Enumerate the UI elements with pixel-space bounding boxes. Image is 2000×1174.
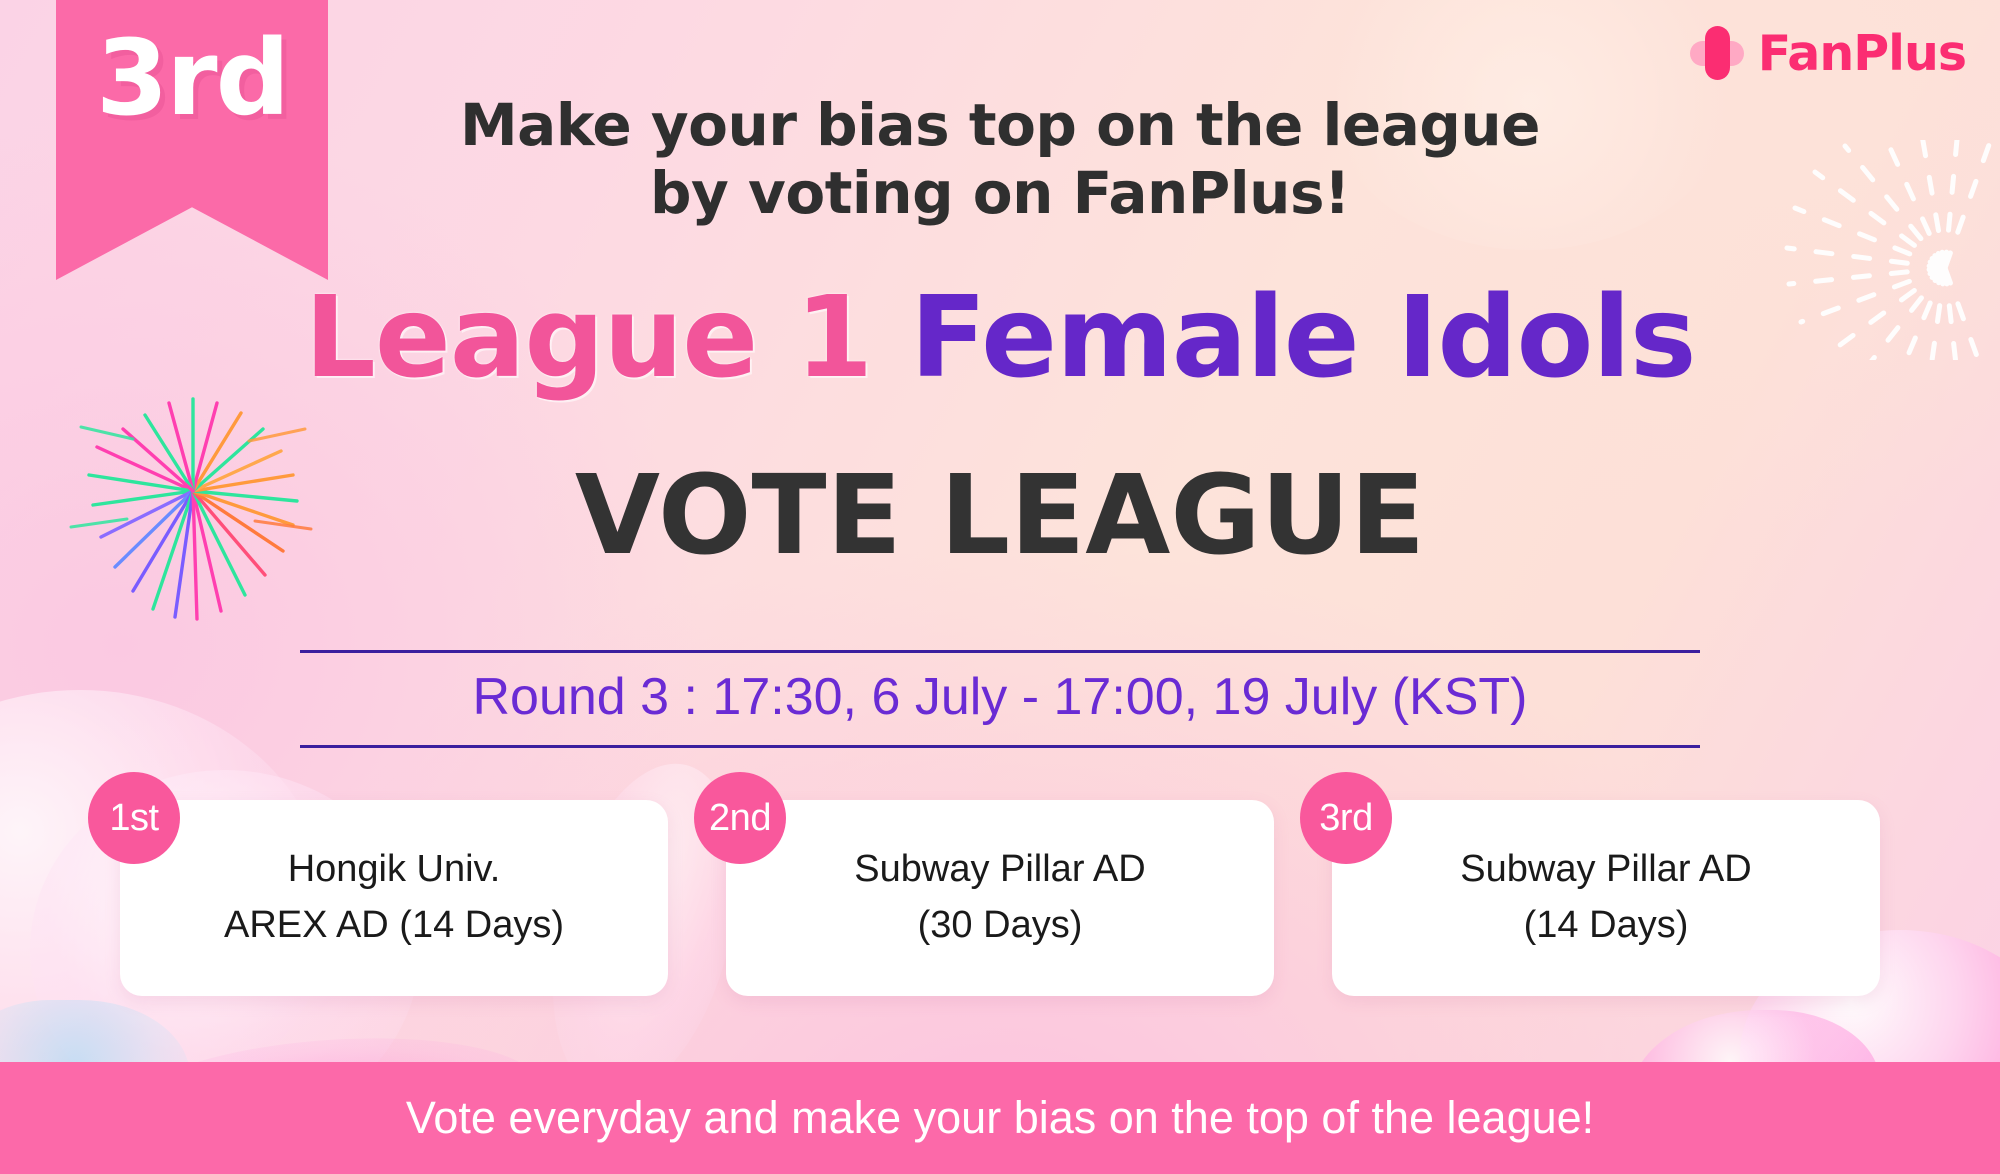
footer-bar: Vote everyday and make your bias on the … <box>0 1062 2000 1174</box>
fanplus-plus-icon <box>1690 26 1744 80</box>
prize-card-1[interactable]: 1st Hongik Univ. AREX AD (14 Days) <box>120 800 668 996</box>
fanplus-logo[interactable]: FanPlus <box>1690 26 1966 80</box>
prize-card-body[interactable]: Hongik Univ. AREX AD (14 Days) <box>120 800 668 996</box>
fanplus-wordmark: FanPlus <box>1758 29 1966 78</box>
headline-line-1: Make your bias top on the league <box>0 92 2000 160</box>
rank-badge: 3rd <box>1300 772 1392 864</box>
round-schedule-band: Round 3 : 17:30, 6 July - 17:00, 19 July… <box>300 650 1700 748</box>
promo-banner: 3rd FanPlus Make your bias top on the le… <box>0 0 2000 1174</box>
page-subtitle: VOTE LEAGUE <box>0 460 2000 570</box>
prize-line-1: Subway Pillar AD <box>1460 850 1751 890</box>
prize-card-3[interactable]: 3rd Subway Pillar AD (14 Days) <box>1332 800 1880 996</box>
page-title: League 1 Female Idols <box>0 282 2000 394</box>
prize-card-2[interactable]: 2nd Subway Pillar AD (30 Days) <box>726 800 1274 996</box>
prize-card-list: 1st Hongik Univ. AREX AD (14 Days) 2nd S… <box>120 800 1880 996</box>
footer-text: Vote everyday and make your bias on the … <box>406 1092 1594 1144</box>
rank-badge: 1st <box>88 772 180 864</box>
title-category-part: Female Idols <box>910 273 1695 403</box>
prize-line-2: (30 Days) <box>918 906 1083 946</box>
prize-card-body[interactable]: Subway Pillar AD (14 Days) <box>1332 800 1880 996</box>
prize-line-1: Hongik Univ. <box>288 850 501 890</box>
round-schedule-text: Round 3 : 17:30, 6 July - 17:00, 19 July… <box>300 671 1700 723</box>
headline-line-2: by voting on FanPlus! <box>0 160 2000 228</box>
headline: Make your bias top on the league by voti… <box>0 92 2000 228</box>
prize-line-2: (14 Days) <box>1524 906 1689 946</box>
prize-line-2: AREX AD (14 Days) <box>224 906 564 946</box>
prize-card-body[interactable]: Subway Pillar AD (30 Days) <box>726 800 1274 996</box>
prize-line-1: Subway Pillar AD <box>854 850 1145 890</box>
title-league-part: League 1 <box>304 273 910 403</box>
rank-badge: 2nd <box>694 772 786 864</box>
